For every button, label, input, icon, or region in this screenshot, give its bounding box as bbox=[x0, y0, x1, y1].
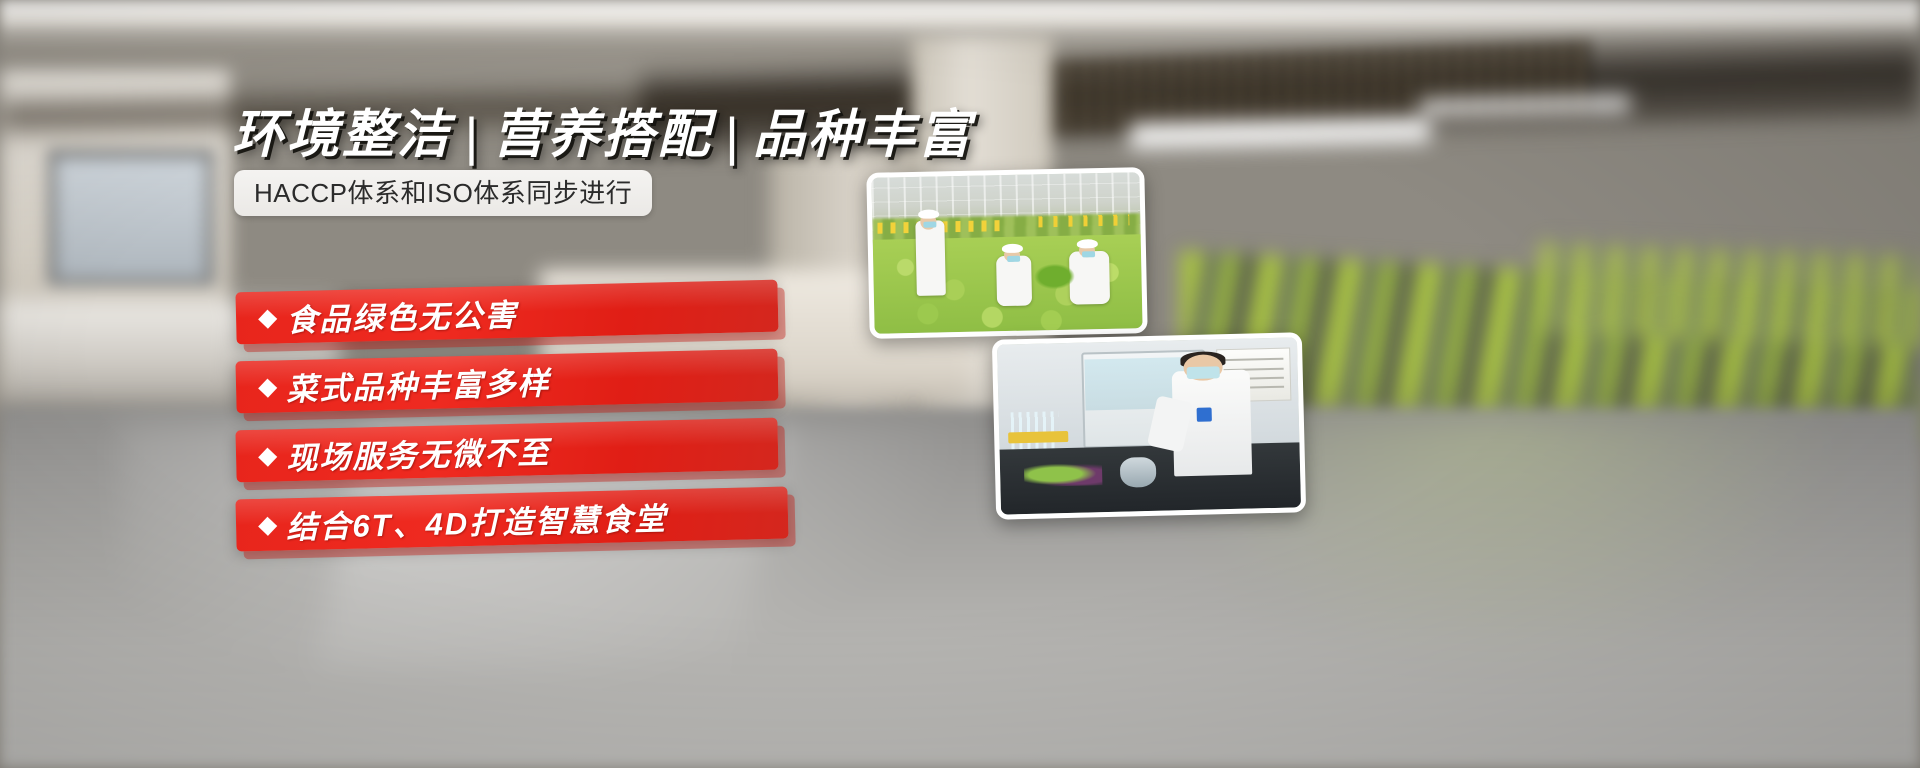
headline-segment-1: 环境整洁 bbox=[232, 106, 452, 164]
crouching-worker-mask bbox=[1007, 256, 1021, 263]
diamond-bullet-icon: ◆ bbox=[258, 443, 278, 468]
standing-worker-mask bbox=[923, 222, 937, 229]
harvested-lettuce-bunch bbox=[1034, 264, 1075, 290]
banner-stage: 环境整洁|营养搭配|品种丰富 HACCP体系和ISO体系同步进行 ◆ 食品绿色无… bbox=[0, 0, 1920, 768]
diamond-bullet-icon: ◆ bbox=[258, 374, 278, 399]
diamond-bullet-icon: ◆ bbox=[258, 305, 278, 330]
feature-bar-label-3: 现场服务无微不至 bbox=[286, 426, 551, 477]
lab-photo-content bbox=[997, 337, 1301, 514]
feature-bar-label-2: 菜式品种丰富多样 bbox=[286, 357, 551, 408]
right-worker-mask bbox=[1082, 251, 1096, 258]
right-worker-cap bbox=[1076, 239, 1098, 249]
technician-mask bbox=[1187, 366, 1220, 379]
diamond-bullet-icon: ◆ bbox=[258, 512, 278, 537]
greenhouse-inspection-photo[interactable] bbox=[866, 167, 1147, 339]
laboratory-testing-photo[interactable] bbox=[992, 332, 1306, 520]
certification-subtitle: HACCP体系和ISO体系同步进行 bbox=[234, 170, 652, 216]
glass-flask bbox=[1120, 456, 1157, 487]
vegetable-samples bbox=[1024, 461, 1103, 487]
headline-separator-1: | bbox=[464, 107, 481, 167]
yellow-sticky-traps-right bbox=[1038, 215, 1129, 228]
headline-separator-2: | bbox=[725, 107, 742, 167]
test-tube-rack bbox=[1008, 431, 1068, 443]
standing-worker-coat bbox=[915, 220, 946, 295]
standing-worker-cap bbox=[918, 209, 940, 219]
right-worker-coat bbox=[1069, 251, 1110, 305]
greenhouse-photo-content bbox=[871, 172, 1142, 334]
feature-bar-label-4: 结合6T、4D打造智慧食堂 bbox=[286, 493, 668, 547]
headline-segment-3: 品种丰富 bbox=[753, 106, 973, 164]
crouching-worker-coat bbox=[996, 256, 1032, 307]
technician-badge bbox=[1197, 407, 1212, 421]
headline-segment-2: 营养搭配 bbox=[493, 106, 713, 164]
banner-headline: 环境整洁|营养搭配|品种丰富 bbox=[232, 92, 973, 167]
feature-bar-label-1: 食品绿色无公害 bbox=[286, 289, 518, 339]
crouching-worker-cap bbox=[1001, 243, 1023, 253]
